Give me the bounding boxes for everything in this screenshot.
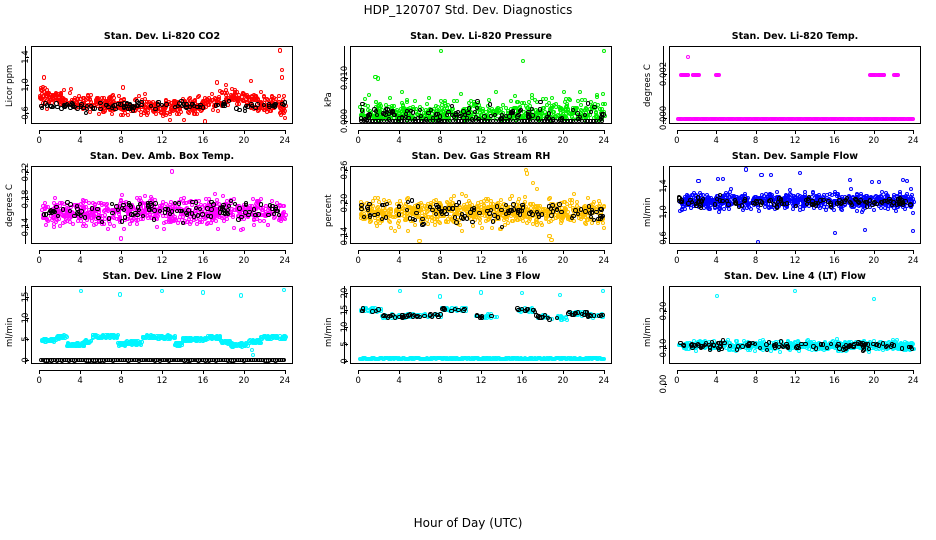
figure-canvas: HDP_120707 Std. Dev. Diagnostics Stan. D…	[0, 0, 936, 540]
